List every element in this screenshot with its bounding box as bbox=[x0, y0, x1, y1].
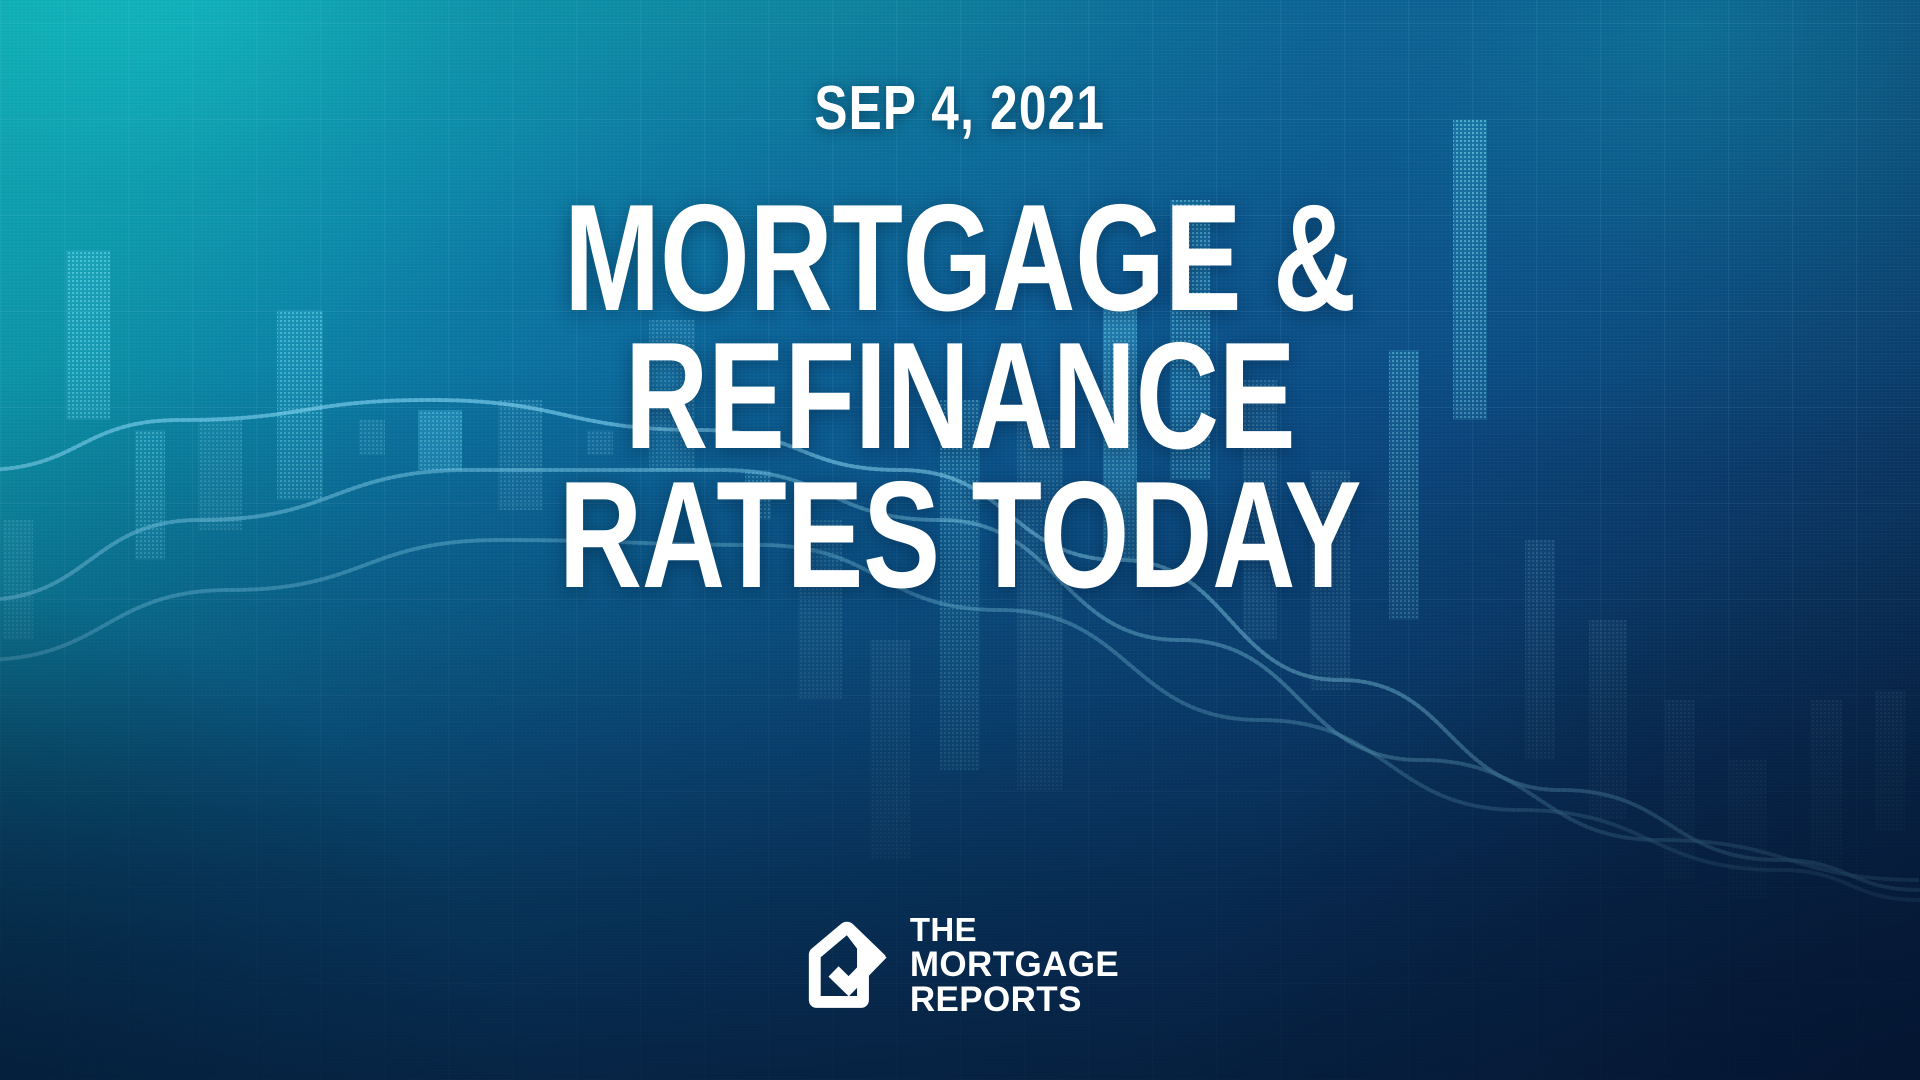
logo-line-mortgage: MORTGAGE bbox=[910, 947, 1119, 983]
headline-line-3: RATES TODAY bbox=[559, 463, 1361, 607]
banner-content: SEP 4, 2021 MORTGAGE & REFINANCE RATES T… bbox=[0, 0, 1920, 1080]
publication-date: SEP 4, 2021 bbox=[815, 78, 1106, 140]
headline-block: MORTGAGE & REFINANCE RATES TODAY bbox=[432, 186, 1488, 601]
banner-canvas: SEP 4, 2021 MORTGAGE & REFINANCE RATES T… bbox=[0, 0, 1920, 1080]
logo-line-the: THE bbox=[910, 913, 1119, 947]
headline-line-2: REFINANCE bbox=[625, 324, 1295, 468]
headline-line-1: MORTGAGE & bbox=[564, 186, 1356, 330]
house-check-logo-icon bbox=[801, 919, 893, 1011]
brand-logo[interactable]: THE MORTGAGE REPORTS bbox=[801, 913, 1119, 1018]
logo-line-reports: REPORTS bbox=[910, 982, 1119, 1018]
brand-wordmark: THE MORTGAGE REPORTS bbox=[910, 913, 1119, 1018]
